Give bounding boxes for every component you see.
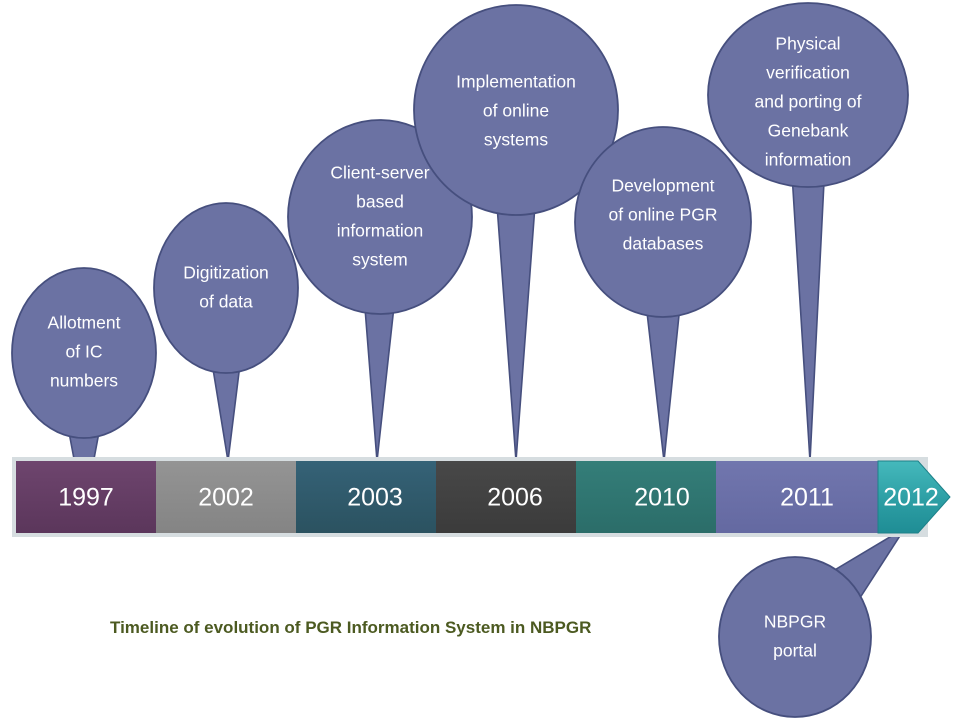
- callout-line: system: [352, 250, 407, 270]
- callout-bubble-shape: [154, 203, 298, 373]
- callout-bubble-shape: [719, 557, 871, 717]
- timeline-year-2006: 2006: [487, 484, 543, 512]
- timeline-year-2011: 2011: [780, 484, 834, 512]
- callout-line: and porting of: [754, 92, 861, 112]
- callout-bubble-pgr-databases[interactable]: Development of online PGR databases: [575, 127, 751, 317]
- callout-bubble-digitization[interactable]: Digitization of data: [154, 203, 298, 373]
- callout-line: information: [337, 221, 424, 241]
- callout-line: Implementation: [456, 72, 576, 92]
- timeline-year-2010: 2010: [634, 484, 690, 512]
- callout-line: based: [356, 192, 404, 212]
- timeline-diagram-canvas: 1997 2002 2003 2006 2010 2011 2012 Allot…: [0, 0, 960, 720]
- timeline-bar: 1997 2002 2003 2006 2010 2011 2012: [12, 457, 950, 537]
- timeline-year-1997: 1997: [58, 484, 114, 512]
- callout-line: of online: [483, 101, 549, 121]
- timeline-year-2003: 2003: [347, 484, 403, 512]
- callout-line: verification: [766, 63, 850, 83]
- callout-line: databases: [623, 234, 704, 254]
- callout-line: of data: [199, 292, 253, 312]
- callout-line: Physical: [775, 34, 840, 54]
- callout-line: NBPGR: [764, 612, 826, 632]
- callout-line: Development: [611, 176, 714, 196]
- callout-line: portal: [773, 641, 817, 661]
- diagram-caption: Timeline of evolution of PGR Information…: [110, 618, 591, 637]
- callout-bubble-portal[interactable]: NBPGR portal: [719, 557, 871, 717]
- callout-line: Allotment: [48, 313, 121, 333]
- callout-line: Client-server: [330, 163, 429, 183]
- callout-line: numbers: [50, 371, 118, 391]
- callout-bubble-genebank[interactable]: Physical verification and porting of Gen…: [708, 3, 908, 187]
- callout-line: systems: [484, 130, 548, 150]
- timeline-year-2012: 2012: [883, 484, 939, 512]
- callout-bubbles: Allotment of IC numbers Digitization of …: [12, 3, 908, 717]
- callout-line: information: [765, 150, 852, 170]
- timeline-diagram-svg: 1997 2002 2003 2006 2010 2011 2012 Allot…: [0, 0, 960, 720]
- timeline-year-2002: 2002: [198, 484, 254, 512]
- callout-line: Digitization: [183, 263, 269, 283]
- callout-line: of IC: [66, 342, 103, 362]
- callout-line: of online PGR: [609, 205, 718, 225]
- callout-tail-2011: [790, 142, 826, 461]
- callout-line: Genebank: [768, 121, 849, 141]
- callout-bubble-allotment[interactable]: Allotment of IC numbers: [12, 268, 156, 438]
